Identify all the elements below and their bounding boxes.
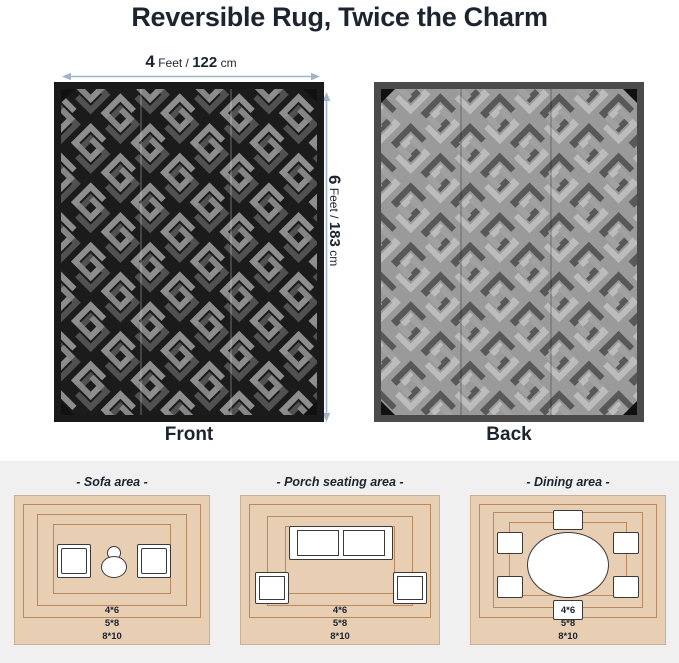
armchair-left-cushion xyxy=(61,548,87,574)
dining-chair-top xyxy=(553,510,583,530)
scene-sofa-size-8x10: 8*10 xyxy=(15,631,209,642)
scene-sofa-title: - Sofa area - xyxy=(14,475,210,489)
scene-porch-title: - Porch seating area - xyxy=(240,475,440,489)
armchair-left-cushion xyxy=(259,576,285,600)
length-cm-unit: cm xyxy=(327,247,341,266)
scene-porch-size-8x10: 8*10 xyxy=(241,631,439,642)
scene-dining-title: - Dining area - xyxy=(470,475,666,489)
dining-chair-top-left xyxy=(497,532,523,554)
scene-sofa-area: - Sofa area - 4*6 5*8 8*10 xyxy=(14,475,210,645)
width-arrow-icon xyxy=(62,72,320,81)
page-title: Reversible Rug, Twice the Charm xyxy=(0,2,679,33)
scene-porch-diagram: 4*6 5*8 8*10 xyxy=(240,495,440,645)
width-cm-value: 122 xyxy=(192,54,217,71)
scene-dining-area: - Dining area - 4*6 5*8 8*10 xyxy=(470,475,666,645)
scene-porch-size-4x6: 4*6 xyxy=(241,605,439,616)
scene-porch-size-5x8: 5*8 xyxy=(241,618,439,629)
rug-back-caption: Back xyxy=(374,424,644,446)
width-feet-unit: Feet / xyxy=(155,56,192,70)
dining-table xyxy=(527,532,609,598)
scene-dining-size-8x10: 8*10 xyxy=(471,631,665,642)
scene-porch-area: - Porch seating area - 4*6 5*8 8*10 xyxy=(240,475,440,645)
rug-front-pattern xyxy=(61,89,317,415)
scene-sofa-size-4x6: 4*6 xyxy=(15,605,209,616)
width-dimension-label: 4 Feet / 122 cm xyxy=(60,52,322,72)
rug-back-pattern xyxy=(381,89,637,415)
length-feet-unit: Feet / xyxy=(327,184,341,221)
product-infographic: Reversible Rug, Twice the Charm 4 Feet /… xyxy=(0,0,679,663)
side-table-base xyxy=(101,556,127,578)
scene-sofa-diagram: 4*6 5*8 8*10 xyxy=(14,495,210,645)
length-cm-value: 183 xyxy=(326,222,343,247)
rug-front-image xyxy=(54,82,324,422)
length-dimension-label: 6 Feet / 183 cm xyxy=(322,175,344,266)
sofa-cushion-right xyxy=(343,530,385,556)
scene-dining-diagram: 4*6 5*8 8*10 xyxy=(470,495,666,645)
dining-chair-top-right xyxy=(613,532,639,554)
scene-dining-size-4x6: 4*6 xyxy=(471,605,665,616)
width-cm-unit: cm xyxy=(217,56,236,70)
armchair-right-cushion xyxy=(141,548,167,574)
sofa-cushion-left xyxy=(297,530,339,556)
armchair-right-cushion xyxy=(397,576,423,600)
scene-sofa-size-5x8: 5*8 xyxy=(15,618,209,629)
dining-chair-bottom-right xyxy=(613,576,639,598)
rug-back-image xyxy=(374,82,644,422)
width-feet-value: 4 xyxy=(145,52,154,71)
dining-chair-bottom-left xyxy=(497,576,523,598)
rug-front-caption: Front xyxy=(54,424,324,446)
placement-guide-panel: - Sofa area - 4*6 5*8 8*10 - P xyxy=(0,461,679,663)
scene-dining-size-5x8: 5*8 xyxy=(471,618,665,629)
